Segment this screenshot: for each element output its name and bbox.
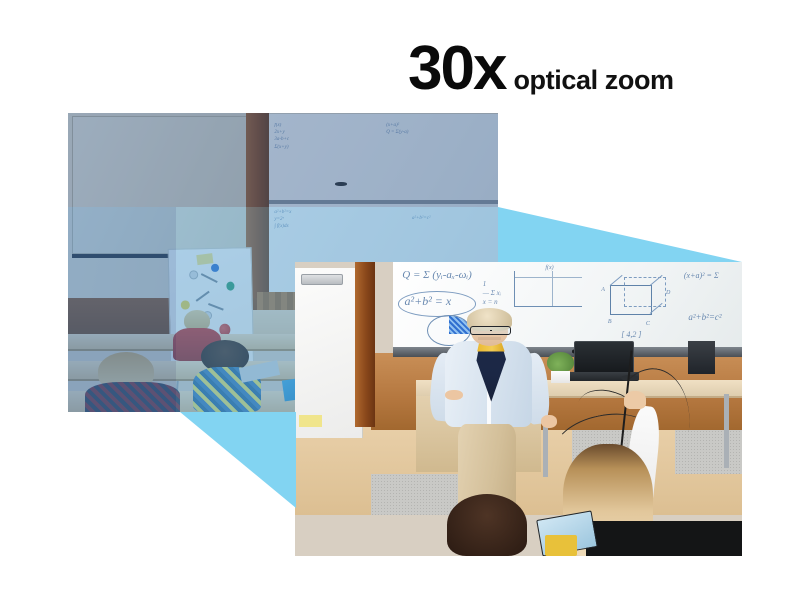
desk-leg [724,394,729,468]
student-dark-hair-back-of-head [447,494,527,556]
zoom-region-dim-left [68,207,176,412]
zoom-region-dim-top [68,113,498,207]
whiteboard-equation-1: Q = Σ (yᵢ-aₓ-ωᵢ) [402,269,472,281]
student-raised-hand [624,391,646,409]
teacher-left-hand [445,390,463,401]
speaker [688,341,715,373]
poster-canvas: 30xoptical zoom f(x) 2x+y 3a-b+c Σ(x+y) … [0,0,800,600]
page-title: 30xoptical zoom [408,38,674,100]
cube-vertex-label-c: C [646,321,650,327]
potted-plant-pot [551,371,570,383]
flipchart-clip [301,274,343,285]
magnification-value: 30x [408,34,505,103]
teacher-right-hand [541,415,557,428]
line-graph [514,271,582,307]
whiteboard-equation-6: a²+b²=c² [688,312,721,322]
whiteboard-equation-5: (x+a)² = Σ [684,271,719,281]
magnification-caption: optical zoom [513,65,673,95]
matrix-notation: [ 4,2 ] [621,330,641,339]
sticky-note-close [299,415,321,427]
zoom-beam-lower [180,412,296,508]
laptop-lid [574,341,634,375]
cube-vertex-label-a: A [601,287,605,293]
equation-ellipse [398,291,476,317]
zoom-beam-upper [498,207,742,262]
foreground-dark-surface [586,521,742,556]
whiteboard-equation-3: 1 — Σ xᵢ x = n [483,280,501,307]
potted-plant-foliage [547,352,574,373]
flipchart-close [295,268,363,439]
teacher-glasses [470,326,510,336]
wood-column-close [355,262,375,427]
cube-vertex-label-b: B [608,319,612,325]
yellow-object [545,535,576,556]
teacher-smile [478,337,500,341]
acoustic-panel [371,474,460,515]
zoomed-classroom-photo: Q = Σ (yᵢ-aₓ-ωᵢ) a²+b² = x 1 — Σ xᵢ x = … [295,262,742,556]
cube-diagram [610,277,664,315]
graph-label: f(x) [545,265,553,271]
cube-vertex-label-d: D [666,290,670,296]
